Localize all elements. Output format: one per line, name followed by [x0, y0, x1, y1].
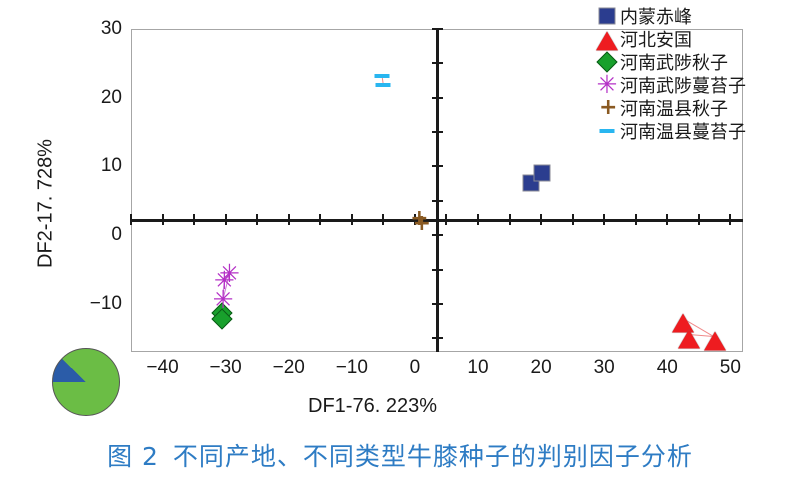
- x-tick-label: 20: [531, 357, 552, 379]
- y-tick-label: −10: [122, 293, 154, 315]
- y-axis-title: DF2-17. 728%: [35, 84, 58, 324]
- asterisk-marker: ✳: [212, 289, 234, 311]
- legend-item-2[interactable]: 河南武陟秋子: [594, 50, 800, 73]
- x-tick: [477, 214, 479, 225]
- legend-marker: ✳: [594, 73, 620, 96]
- y-tick: [432, 269, 443, 271]
- legend-marker: [594, 27, 620, 50]
- x-tick: [572, 214, 574, 225]
- square-marker: [599, 7, 616, 24]
- x-tick: [698, 214, 700, 225]
- legend-item-4[interactable]: +河南温县秋子: [594, 96, 800, 119]
- figure-number: 图 2: [107, 442, 159, 471]
- legend-marker: [594, 119, 620, 142]
- figure-root: −40−30−20−1001020304050 −100102030 ✳✳✳++…: [0, 0, 800, 484]
- triangle-marker: [678, 330, 700, 349]
- x-tick: [193, 214, 195, 225]
- legend: 内蒙赤峰河北安国河南武陟秋子✳河南武陟蔓苔子+河南温县秋子河南温县蔓苔子: [594, 4, 800, 142]
- dash-marker: [375, 74, 390, 78]
- x-tick: [445, 214, 447, 225]
- x-tick: [256, 214, 258, 225]
- x-tick: [351, 214, 353, 225]
- y-tick: [432, 28, 443, 30]
- x-tick: [382, 214, 384, 225]
- x-tick-label: 0: [410, 357, 421, 379]
- plus-marker: +: [413, 216, 429, 232]
- x-tick: [635, 214, 637, 225]
- dash-marker: [600, 129, 615, 133]
- x-tick-label: −40: [146, 357, 178, 379]
- x-tick-label: 10: [467, 357, 488, 379]
- legend-label: 河南温县蔓苔子: [620, 118, 746, 144]
- legend-marker: [594, 4, 620, 27]
- x-tick: [509, 214, 511, 225]
- x-tick: [603, 214, 605, 225]
- y-tick: [432, 303, 443, 305]
- x-tick-label: 30: [594, 357, 615, 379]
- x-tick: [162, 214, 164, 225]
- x-tick: [319, 214, 321, 225]
- y-tick: [432, 337, 443, 339]
- y-tick-label: 0: [122, 224, 133, 246]
- dash-marker: [376, 83, 391, 87]
- y-tick: [432, 234, 443, 236]
- x-axis-title-text: DF1-76. 223%: [308, 395, 437, 418]
- x-tick: [666, 214, 668, 225]
- x-tick-label: −20: [273, 357, 305, 379]
- figure-caption: 图 2不同产地、不同类型牛膝种子的判别因子分析: [0, 437, 800, 473]
- x-tick-label: 50: [720, 357, 741, 379]
- triangle-marker: [704, 332, 726, 351]
- x-tick-label: −10: [336, 357, 368, 379]
- y-tick: [432, 62, 443, 64]
- legend-item-1[interactable]: 河北安国: [594, 27, 800, 50]
- y-tick-label: 30: [122, 18, 143, 40]
- y-tick: [432, 97, 443, 99]
- asterisk-marker: ✳: [596, 74, 618, 96]
- y-tick: [432, 165, 443, 167]
- figure-caption-text: 不同产地、不同类型牛膝种子的判别因子分析: [173, 442, 693, 471]
- x-tick: [288, 214, 290, 225]
- legend-item-5[interactable]: 河南温县蔓苔子: [594, 119, 800, 142]
- y-tick-label: 10: [122, 155, 143, 177]
- x-tick: [540, 214, 542, 225]
- x-tick-label: −30: [210, 357, 242, 379]
- legend-item-3[interactable]: ✳河南武陟蔓苔子: [594, 73, 800, 96]
- triangle-marker: [596, 31, 618, 50]
- y-tick: [432, 131, 443, 133]
- x-tick: [729, 214, 731, 225]
- x-axis-title: DF1-76. 223%: [0, 395, 800, 418]
- y-axis-title-text: DF2-17. 728%: [35, 139, 57, 268]
- pie-chart-inset: [52, 348, 120, 416]
- legend-item-0[interactable]: 内蒙赤峰: [594, 4, 800, 27]
- x-tick-label: 40: [657, 357, 678, 379]
- plus-marker: +: [599, 100, 615, 116]
- legend-marker: +: [594, 96, 620, 119]
- y-tick: [432, 200, 443, 202]
- x-tick: [225, 214, 227, 225]
- square-marker: [534, 164, 551, 181]
- y-tick-label: 20: [122, 87, 143, 109]
